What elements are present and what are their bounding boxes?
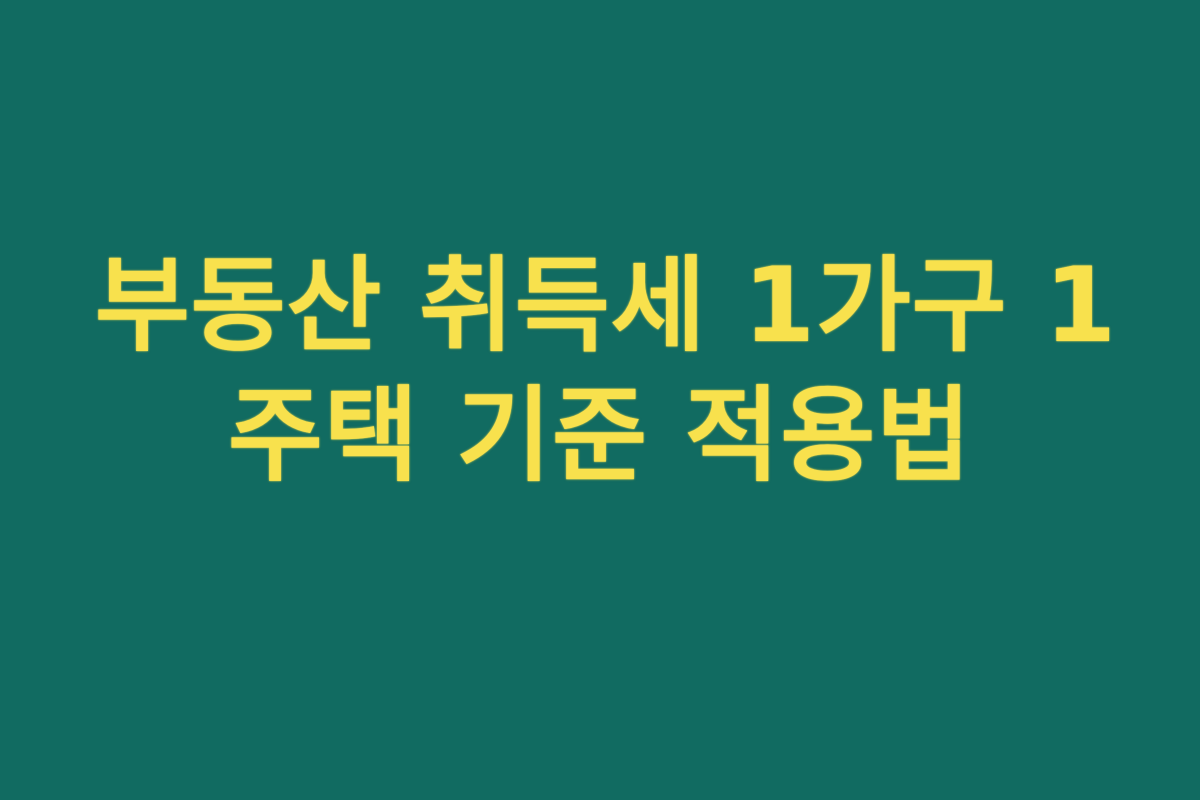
headline-block: 부동산 취득세 1가구 1 주택 기준 적용법 [95,241,1105,501]
headline-line-2: 주택 기준 적용법 [95,371,1105,501]
headline-line-1: 부동산 취득세 1가구 1 [95,241,1105,371]
thumbnail-canvas: 부동산 취득세 1가구 1 주택 기준 적용법 [0,0,1200,800]
